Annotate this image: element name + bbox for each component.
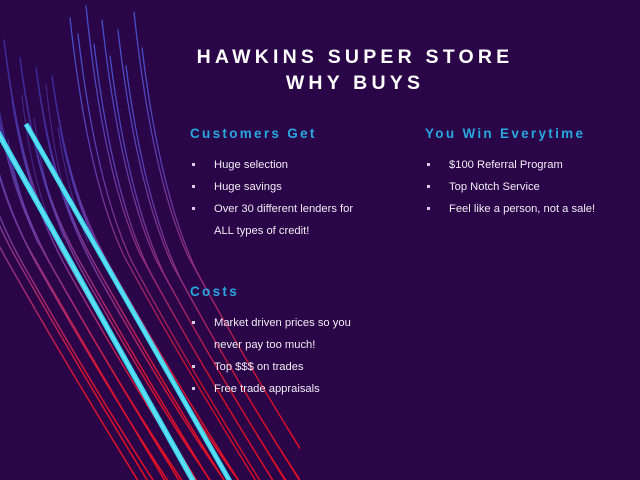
list-item: Huge selection <box>190 154 390 176</box>
list-item-label: Huge savings <box>214 176 390 198</box>
bullet-dot-icon <box>192 365 195 368</box>
bullet-list-customers-get: Huge selection Huge savings Over 30 diff… <box>190 154 390 242</box>
list-item-label: $100 Referral Program <box>449 154 630 176</box>
section-heading-customers-get: Customers Get <box>190 126 390 141</box>
section-customers-get: Customers Get Huge selection Huge saving… <box>190 126 390 242</box>
list-item-label: Top Notch Service <box>449 176 630 198</box>
list-item: Over 30 different lenders for ALL types … <box>190 198 390 242</box>
slide-title: HAWKINS SUPER STORE WHY BUYS <box>150 44 560 96</box>
bullet-dot-icon <box>192 185 195 188</box>
list-item-label: Market driven prices so you <box>214 312 390 334</box>
list-item: Feel like a person, not a sale! <box>425 198 630 220</box>
bullet-dot-icon <box>192 207 195 210</box>
list-item-label: Over 30 different lenders for <box>214 198 390 220</box>
list-item-label: Top $$$ on trades <box>214 356 390 378</box>
bullet-dot-icon <box>427 207 430 210</box>
list-item: Huge savings <box>190 176 390 198</box>
bullet-dot-icon <box>192 163 195 166</box>
bullet-dot-icon <box>192 387 195 390</box>
section-costs: Costs Market driven prices so you never … <box>190 284 390 400</box>
bullet-list-costs: Market driven prices so you never pay to… <box>190 312 390 400</box>
list-item: Top Notch Service <box>425 176 630 198</box>
bullet-dot-icon <box>427 185 430 188</box>
list-item-label-cont: ALL types of credit! <box>214 220 390 242</box>
list-item-label-cont: never pay too much! <box>214 334 390 356</box>
list-item: $100 Referral Program <box>425 154 630 176</box>
list-item: Market driven prices so you never pay to… <box>190 312 390 356</box>
list-item-label: Huge selection <box>214 154 390 176</box>
list-item: Top $$$ on trades <box>190 356 390 378</box>
title-line-1: HAWKINS SUPER STORE <box>150 44 560 70</box>
section-you-win-everytime: You Win Everytime $100 Referral Program … <box>425 126 630 220</box>
list-item: Free trade appraisals <box>190 378 390 400</box>
section-heading-you-win-everytime: You Win Everytime <box>425 126 630 141</box>
title-line-2: WHY BUYS <box>150 70 560 96</box>
list-item-label: Feel like a person, not a sale! <box>449 198 630 220</box>
bullet-dot-icon <box>192 321 195 324</box>
section-heading-costs: Costs <box>190 284 390 299</box>
presentation-slide: HAWKINS SUPER STORE WHY BUYS Customers G… <box>0 0 640 480</box>
bullet-list-you-win-everytime: $100 Referral Program Top Notch Service … <box>425 154 630 220</box>
bullet-dot-icon <box>427 163 430 166</box>
list-item-label: Free trade appraisals <box>214 378 390 400</box>
